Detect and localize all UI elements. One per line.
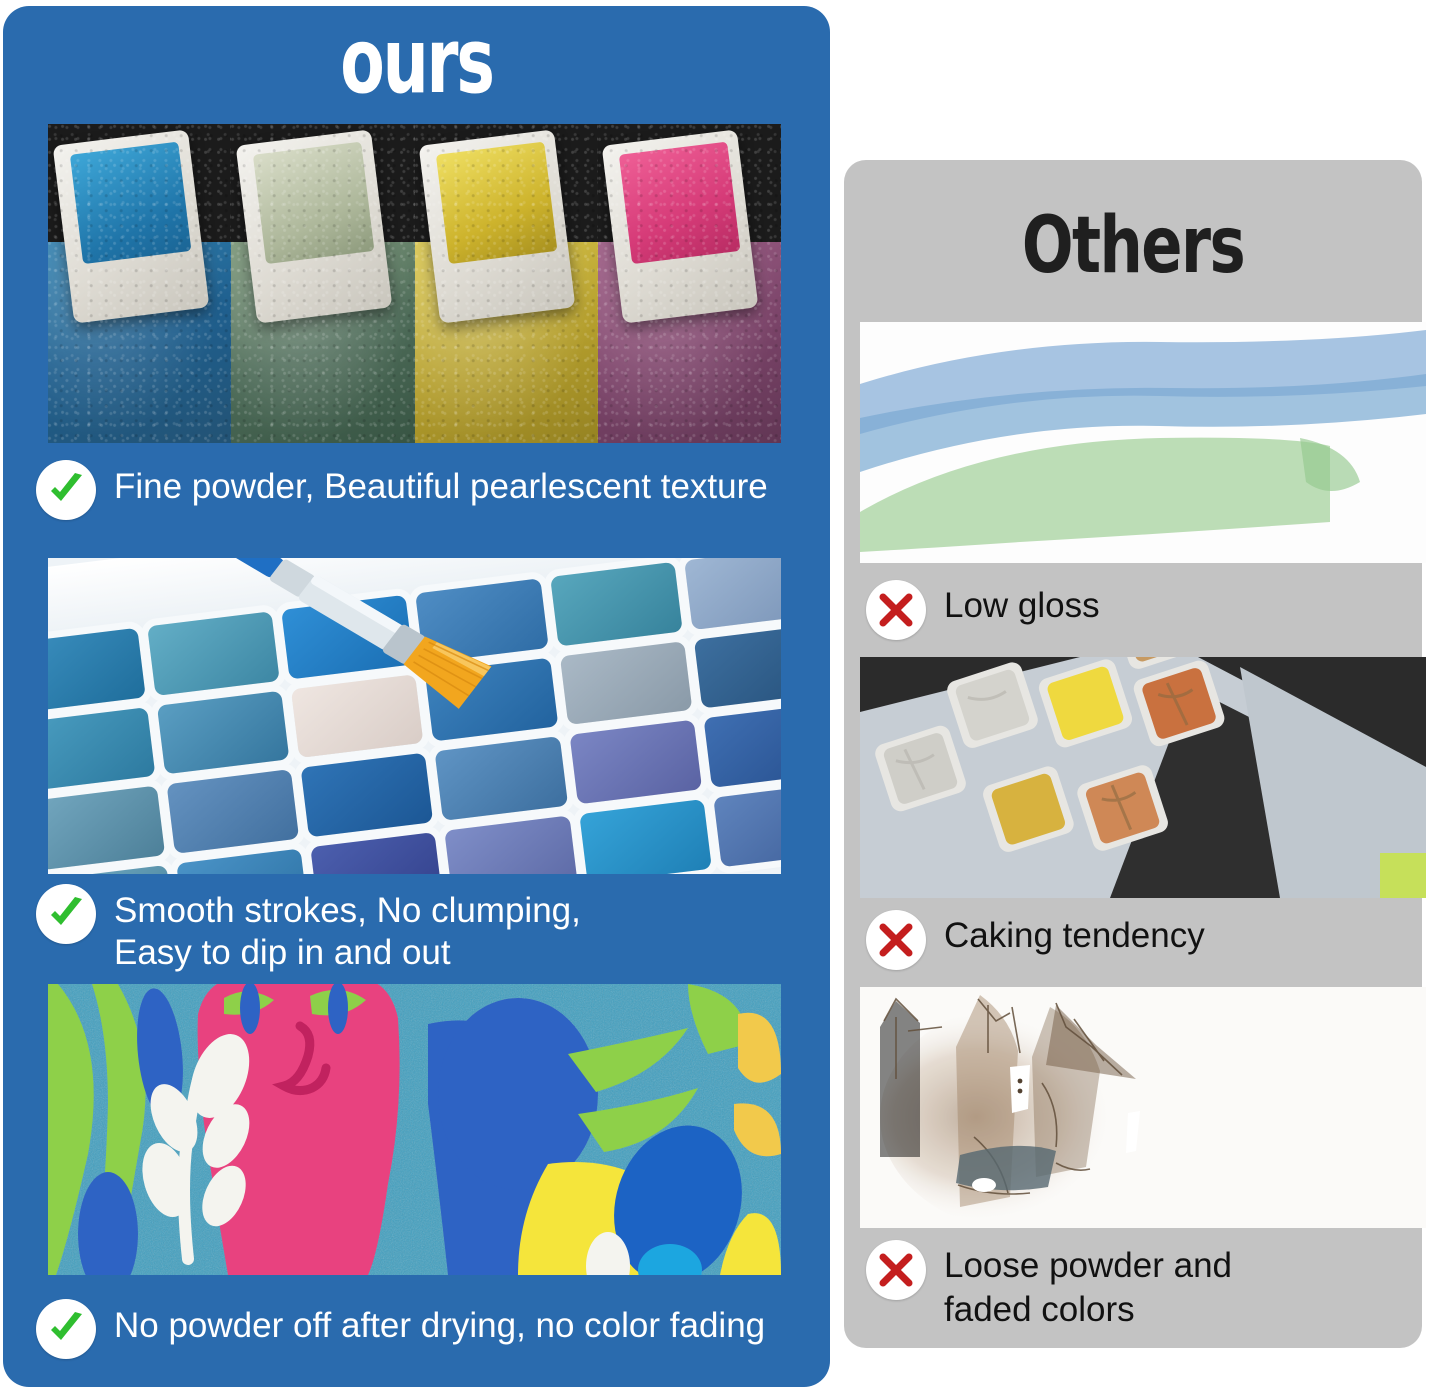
photo-pale-wash-swatch [860,322,1426,563]
photo-cell-silver-green-metallic-pan [231,124,414,443]
photo-caked-metallic-tray [860,657,1426,898]
cross-icon [866,1240,926,1300]
ours-feature-2-label: Smooth strokes, No clumping, Easy to dip… [114,884,581,974]
cross-icon [866,580,926,640]
check-icon [36,460,96,520]
cross-icon [866,910,926,970]
ours-title: ours [119,16,714,108]
photo-faded-sepia-sketch [860,987,1426,1228]
others-feature-1-label: Low gloss [944,580,1100,628]
sparkle-texture [231,124,414,443]
sparkle-texture [415,124,598,443]
ours-feature-3-label: No powder off after drying, no color fad… [114,1299,765,1347]
ours-feature-3: No powder off after drying, no color fad… [36,1299,765,1359]
sparkle-texture [598,124,781,443]
others-title: Others [908,206,1359,286]
others-feature-1: Low gloss [866,580,1100,640]
photo-cell-blue-metallic-pan [48,124,231,443]
photo-blue-palette-with-brush [48,558,781,874]
paint-brush [165,558,502,786]
others-feature-3: Loose powder and faded colors [866,1240,1232,1332]
photo-folk-art-cat-painting [48,984,781,1275]
others-feature-2-label: Caking tendency [944,910,1205,958]
ours-feature-2: Smooth strokes, No clumping, Easy to dip… [36,884,581,974]
others-feature-2: Caking tendency [866,910,1205,970]
others-feature-3-label: Loose powder and faded colors [944,1240,1232,1332]
check-icon [36,884,96,944]
ours-feature-1-label: Fine powder, Beautiful pearlescent textu… [114,460,768,508]
photo-metallic-pan-strip [48,124,781,443]
comparison-infographic: ours Fine powder, B [0,0,1445,1398]
ours-feature-1: Fine powder, Beautiful pearlescent textu… [36,460,768,520]
photo-cell-gold-metallic-pan [415,124,598,443]
photo-cell-pink-metallic-pan [598,124,781,443]
check-icon [36,1299,96,1359]
sparkle-texture [48,124,231,443]
